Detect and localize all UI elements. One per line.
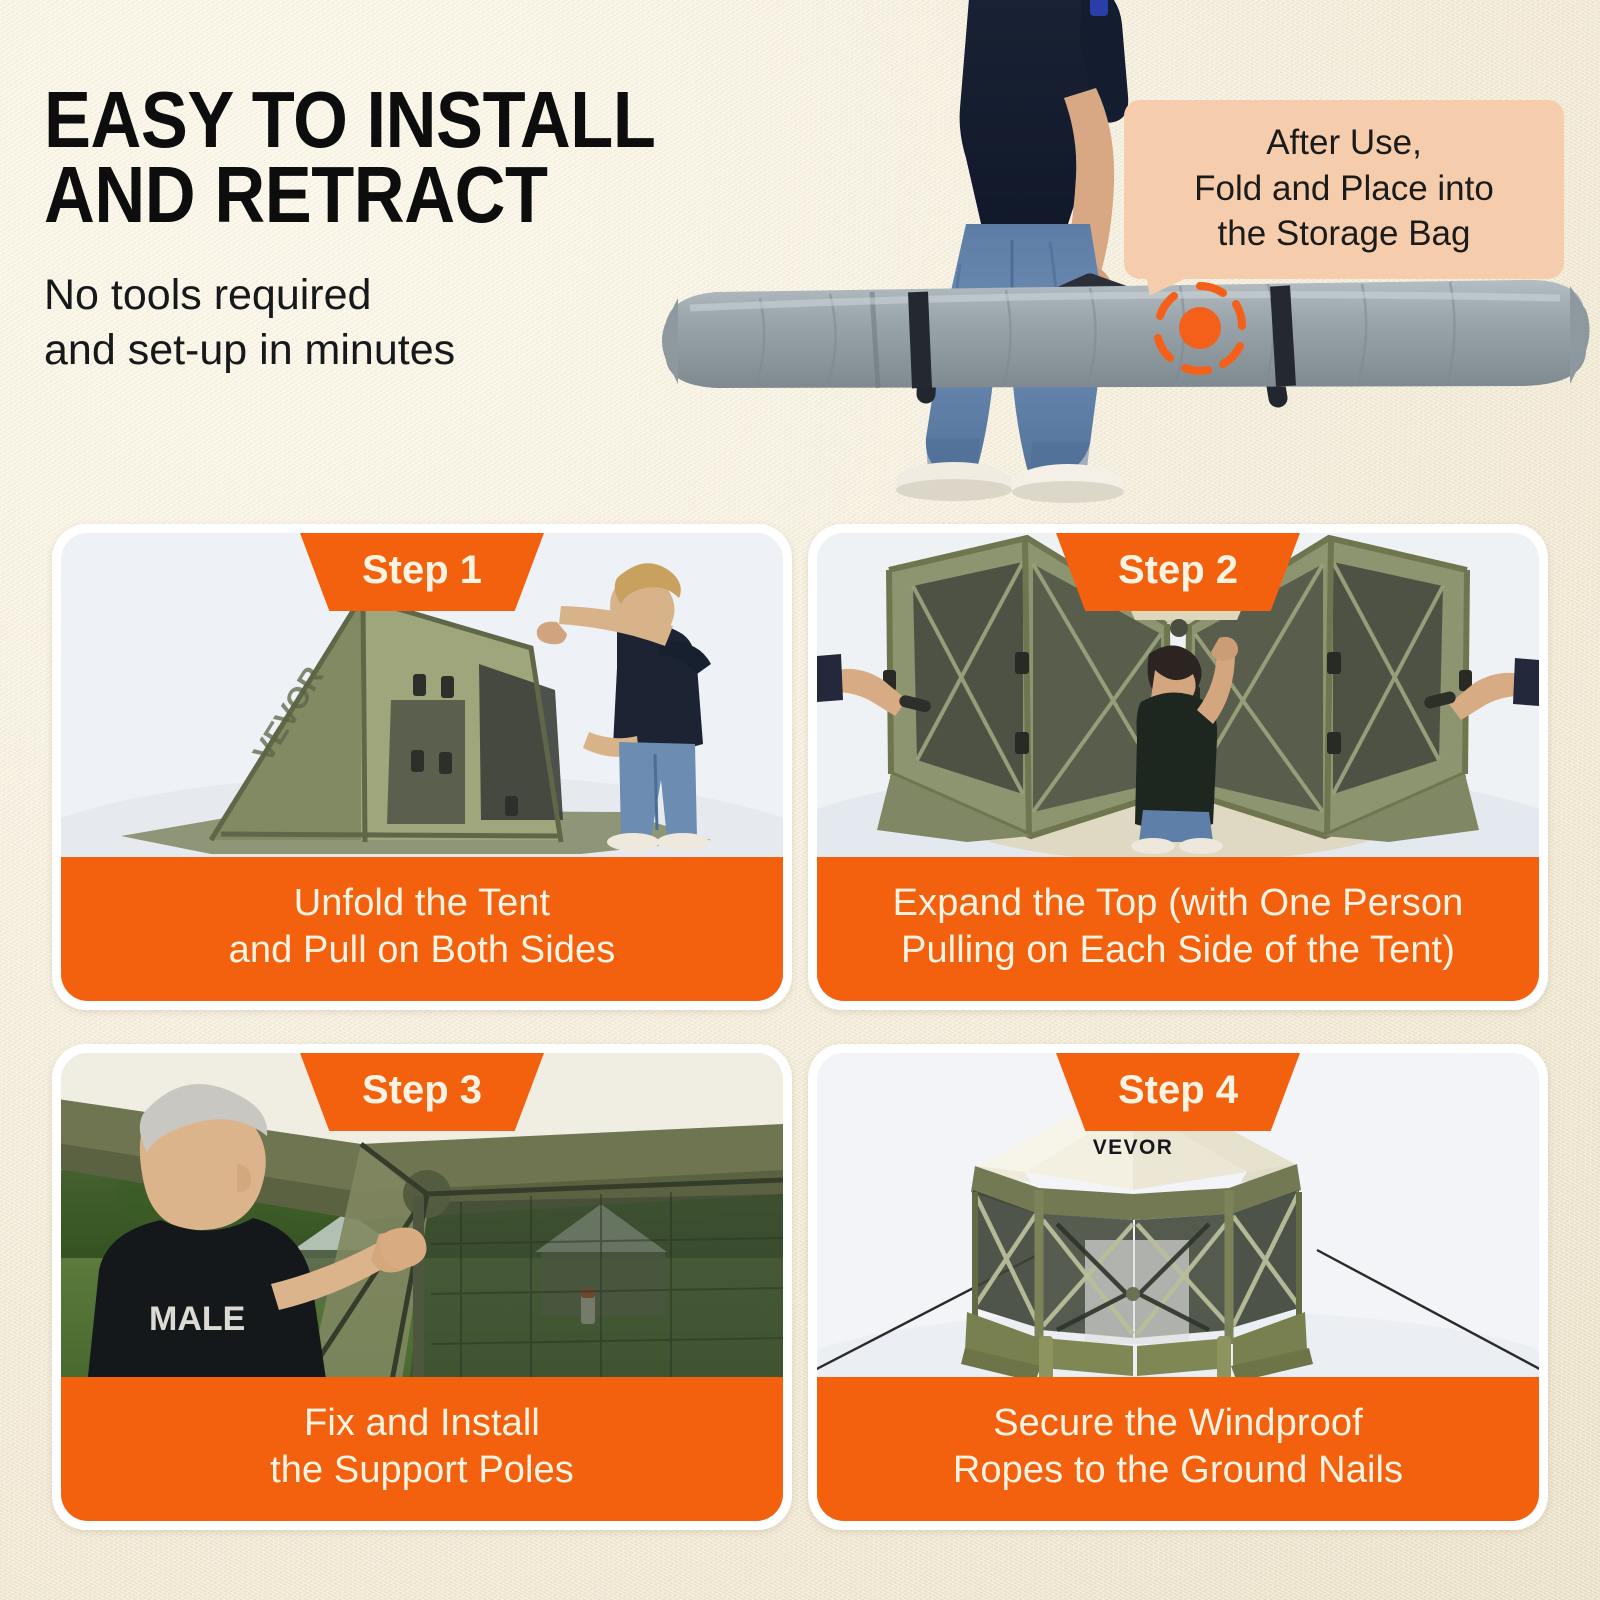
step-badge-2: Step 2 xyxy=(1056,533,1300,611)
step-badge-1: Step 1 xyxy=(300,533,544,611)
step-badge-4: Step 4 xyxy=(1056,1053,1300,1131)
storage-bag-callout: After Use, Fold and Place into the Stora… xyxy=(1124,100,1564,279)
headline-line-2: AND RETRACT xyxy=(44,157,713,232)
shirt-sleeve-logo xyxy=(1090,0,1108,16)
step-card-3: MALE Fix and Install the Support Poles S… xyxy=(52,1044,792,1530)
step1-caption: Unfold the Tent and Pull on Both Sides xyxy=(61,857,783,1001)
support-pole xyxy=(413,1196,424,1377)
callout-line-1: After Use, xyxy=(1140,120,1548,166)
step-cards-grid: VEVOR xyxy=(0,524,1600,1564)
headline-line-1: EASY TO INSTALL xyxy=(44,82,713,157)
headline-block: EASY TO INSTALL AND RETRACT No tools req… xyxy=(44,82,804,378)
subheadline: No tools required and set-up in minutes xyxy=(44,268,804,378)
shirt-print: MALE xyxy=(149,1300,245,1338)
step-card-1: VEVOR xyxy=(52,524,792,1010)
step-card-4: VEVOR xyxy=(808,1044,1548,1530)
step-badge-3: Step 3 xyxy=(300,1053,544,1131)
callout-line-3: the Storage Bag xyxy=(1140,211,1548,257)
step-card-2: Expand the Top (with One Person Pulling … xyxy=(808,524,1548,1010)
subheadline-line-2: and set-up in minutes xyxy=(44,323,804,378)
step4-caption: Secure the Windproof Ropes to the Ground… xyxy=(817,1377,1539,1521)
subheadline-line-1: No tools required xyxy=(44,268,804,323)
callout-line-2: Fold and Place into xyxy=(1140,166,1548,212)
step3-caption: Fix and Install the Support Poles xyxy=(61,1377,783,1521)
step2-caption: Expand the Top (with One Person Pulling … xyxy=(817,857,1539,1001)
hero-person xyxy=(896,0,1128,504)
tent-brand-logo: VEVOR xyxy=(1093,1136,1174,1159)
